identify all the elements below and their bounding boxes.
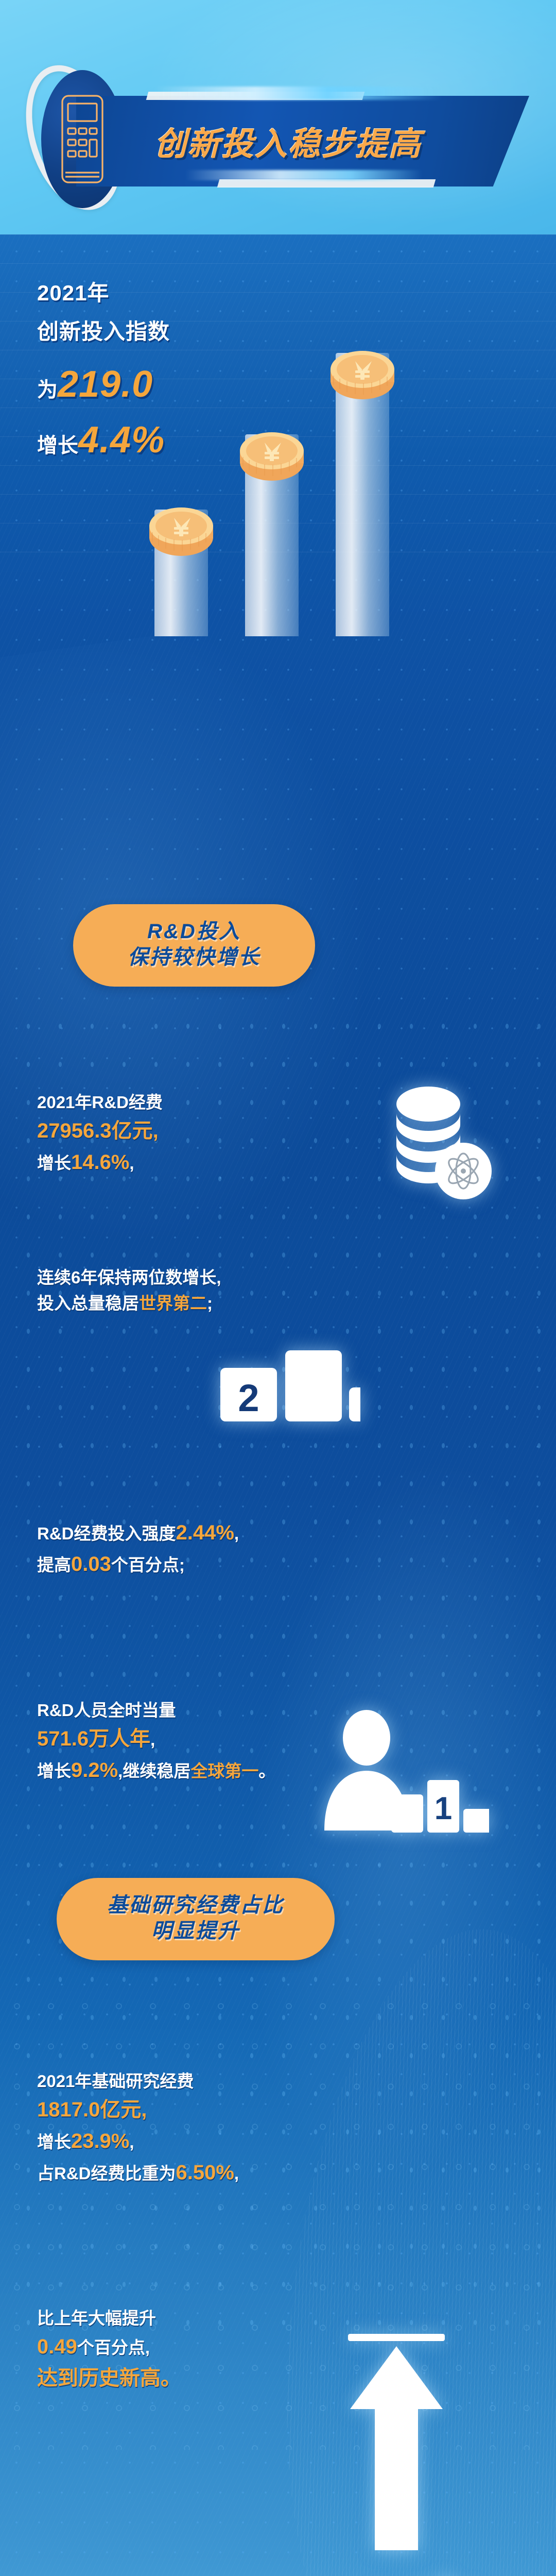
section-header-rd-investment: R&D投入 保持较快增长 [73,904,315,987]
stat-line: 提高0.03个百分点; [37,1549,408,1580]
pill-line-1: 基础研究经费占比 [67,1892,324,1918]
stat-line: 连续6年保持两位数增长, [37,1265,408,1291]
pill-line-2: 保持较快增长 [83,944,305,970]
main-panel: 2021年 创新投入指数 为219.0 增长4.4% [0,234,556,2576]
stat-line: 占R&D经费比重为6.50%, [37,2157,408,2189]
stat-line: 比上年大幅提升 [37,2306,408,2331]
pill-line-2: 明显提升 [67,1918,324,1944]
stat-line: 增长23.9%, [37,2126,408,2157]
stat-block-rd-funding: 2021年R&D经费 27956.3亿元, 增长14.6%, [37,1090,408,1178]
up-arrow-icon [340,2334,453,2550]
hero-header: 创新投入稳步提高 [0,0,556,242]
stat-block-consecutive-growth: 连续6年保持两位数增长, 投入总量稳居世界第二; [37,1265,408,1316]
podium-second-icon: 2 [206,1347,360,1425]
stat-block-rd-intensity: R&D经费投入强度2.44%, 提高0.03个百分点; [37,1517,408,1580]
stat-line: 2021年基础研究经费 [37,2069,408,2094]
stat-line: 2021年R&D经费 [37,1090,408,1115]
pill-line-1: R&D投入 [83,919,305,944]
coin-icon-3 [326,344,398,404]
stat-block-basic-research-funding: 2021年基础研究经费 1817.0亿元, 增长23.9%, 占R&D经费比重为… [37,2069,408,2189]
banner-slash-bottom [217,179,436,188]
intro-index-prefix: 为 [37,379,58,401]
banner-glow-top [154,87,443,100]
svg-text:2: 2 [238,1377,259,1419]
page-title: 创新投入稳步提高 [154,122,515,168]
banner-glow-bottom [185,170,422,180]
section-header-basic-research: 基础研究经费占比 明显提升 [57,1878,335,1960]
coin-bar-chart [139,337,520,636]
coin-stack-atom-icon [381,1084,494,1203]
person-podium-first-icon: 1 [319,1708,489,1837]
stat-line: 27956.3亿元, [37,1115,408,1147]
infographic-page: 创新投入稳步提高 2021年 创新投入指数 为219.0 增长4.4% [0,0,556,2576]
calculator-icon [61,94,104,187]
svg-text:1: 1 [435,1791,452,1826]
stat-line: 增长14.6%, [37,1147,408,1178]
stat-line: 投入总量稳居世界第二; [37,1291,408,1316]
gears-yuan-icon: ¥ [307,2522,477,2576]
coin-icon-1 [145,500,217,561]
coin-icon-2 [236,425,308,486]
intro-year: 2021年 [37,276,170,307]
stat-line: R&D经费投入强度2.44%, [37,1517,408,1549]
intro-growth-prefix: 增长 [37,434,78,457]
stat-line: 1817.0亿元, [37,2094,408,2126]
